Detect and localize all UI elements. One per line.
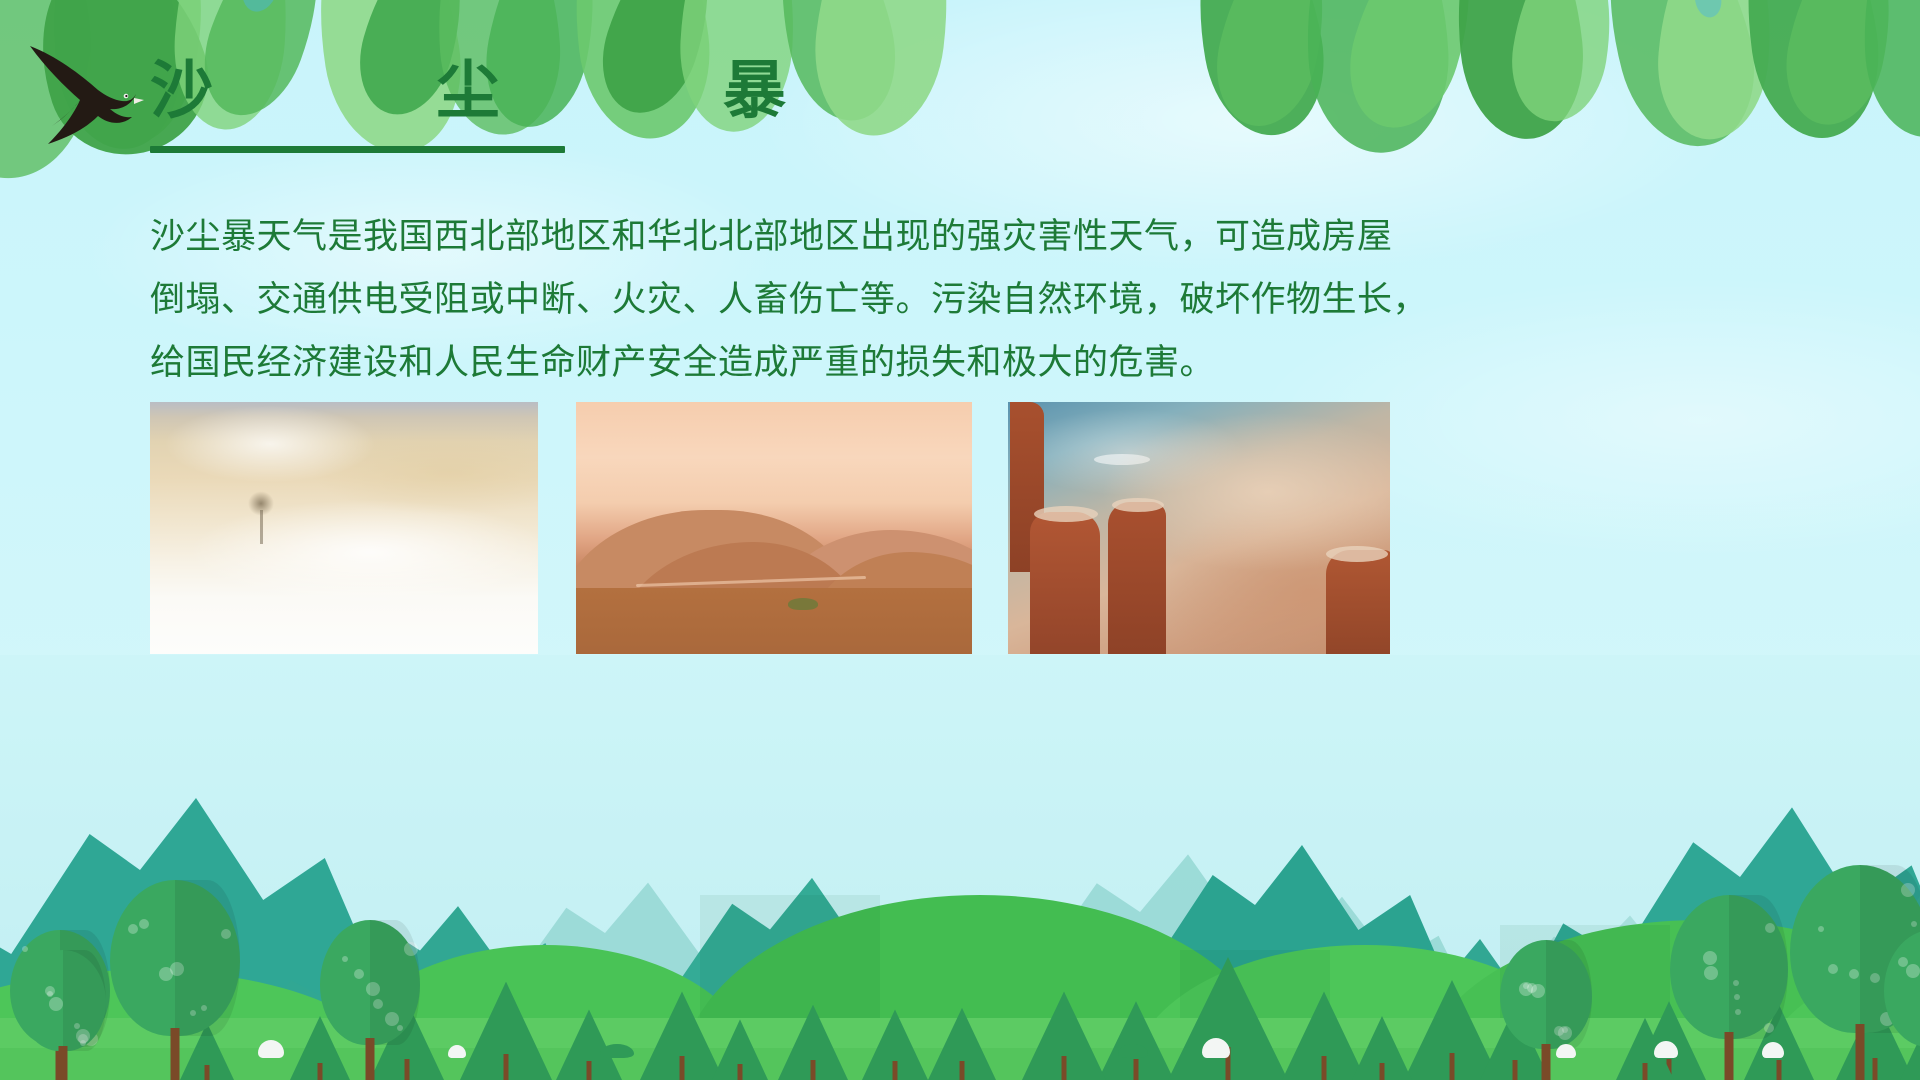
foliage-dot — [47, 991, 53, 997]
tree-trunk — [738, 1064, 743, 1080]
foliage-dot — [78, 1034, 88, 1044]
tree-trunk — [587, 1061, 592, 1080]
foliage-dot — [1906, 964, 1920, 978]
round-tree — [20, 950, 106, 1080]
foliage-dot — [1733, 980, 1739, 986]
tree-trunk — [893, 1061, 898, 1080]
foliage-dot — [1849, 969, 1859, 979]
foliage-dot — [1818, 926, 1824, 932]
rock-highlight-cap — [1034, 506, 1098, 522]
foliage-dot — [1519, 982, 1533, 996]
tree-trunk — [1725, 1032, 1734, 1080]
foliage-dot — [373, 999, 383, 1009]
foliage-dot — [1734, 994, 1740, 1000]
round-tree — [110, 880, 240, 1080]
foliage-dot — [1554, 1026, 1564, 1036]
tree-crown — [320, 920, 420, 1045]
white-rock — [1556, 1044, 1576, 1058]
foliage-dot — [1558, 1026, 1572, 1040]
conifer-tree — [460, 960, 552, 1080]
body-line-1: 沙尘暴天气是我国西北部地区和华北北部地区出现的强灾害性天气，可造成房屋 — [150, 205, 1395, 268]
page-title: 沙 尘 暴 — [150, 58, 889, 124]
white-rock — [448, 1045, 466, 1058]
tree-crown — [1670, 895, 1788, 1039]
white-rock — [1762, 1042, 1784, 1058]
foliage-dot — [1901, 883, 1915, 897]
tree-crown — [1884, 930, 1920, 1047]
foliage-dot — [385, 1012, 399, 1026]
green-mountain-forest-illustration — [0, 655, 1920, 1080]
foliage-dot — [201, 1005, 207, 1011]
foliage-dot — [128, 924, 138, 934]
tree-trunk — [171, 1028, 180, 1080]
conifer-tree — [862, 994, 928, 1080]
tree-trunk — [1542, 1044, 1551, 1080]
tree-trunk — [680, 1056, 685, 1080]
tree-trunk — [1062, 1056, 1067, 1080]
tree-crown — [1500, 940, 1592, 1049]
rock-highlight-cap — [1112, 498, 1164, 512]
foliage-dot — [80, 1040, 86, 1046]
foliage-dot — [49, 997, 63, 1011]
conifer-tree — [1022, 972, 1106, 1080]
title-underline-rule — [150, 146, 565, 153]
round-tree — [1500, 940, 1592, 1080]
conifer-tree — [1168, 930, 1288, 1080]
white-rock — [1654, 1041, 1678, 1058]
foliage-dot — [1765, 923, 1775, 933]
hazy-dust-storm-photo[interactable] — [150, 402, 538, 654]
tree-crown — [20, 950, 106, 1051]
foliage-dot — [1898, 957, 1908, 967]
tree-trunk — [504, 1054, 509, 1080]
foliage-dot — [354, 969, 364, 979]
foliage-dot — [1911, 921, 1917, 927]
foliage-dot — [1562, 1027, 1568, 1033]
foliage-dot — [74, 1023, 80, 1029]
foliage-dot — [221, 929, 231, 939]
conifer-tree — [1098, 984, 1174, 1080]
tree-trunk — [1643, 1063, 1648, 1080]
foliage-dot — [139, 919, 149, 929]
tree-trunk — [1134, 1059, 1139, 1080]
tree-trunk — [366, 1038, 375, 1080]
foliage-dot — [342, 956, 348, 962]
tree-crown — [110, 880, 240, 1036]
tree-trunk — [1322, 1056, 1327, 1080]
conifer-tree — [928, 992, 996, 1080]
title-block: 沙 尘 暴 — [150, 58, 889, 153]
round-tree — [1884, 930, 1920, 1080]
slide-root: 沙 尘 暴 沙尘暴天气是我国西北部地区和华北北部地区出现的强灾害性天气，可造成房… — [0, 0, 1920, 1080]
tree-trunk — [59, 1046, 68, 1080]
tree-trunk — [960, 1061, 965, 1080]
conifer-tree — [1352, 1002, 1412, 1080]
foliage-dot — [1870, 973, 1880, 983]
conifer-tree — [556, 994, 622, 1080]
conifer-tree — [778, 988, 848, 1080]
foliage-dot — [76, 1029, 90, 1043]
foliage-dot — [1828, 964, 1838, 974]
foliage-dot — [190, 1010, 196, 1016]
small-bush — [600, 1044, 634, 1058]
desert-dunes-photo[interactable] — [576, 402, 972, 654]
small-bush — [1118, 1044, 1148, 1058]
swallow-bird-icon — [22, 38, 162, 148]
rock-highlight-cap — [1326, 546, 1388, 562]
foliage-dot — [159, 967, 173, 981]
body-line-3: 给国民经济建设和人民生命财产安全造成严重的损失和极大的危害。 — [150, 331, 1395, 394]
foliage-dot — [1703, 951, 1717, 965]
tree-trunk — [1856, 1024, 1865, 1080]
conifer-tree — [712, 1006, 768, 1080]
foliage-dot — [1704, 966, 1718, 980]
body-paragraph: 沙尘暴天气是我国西北部地区和华北北部地区出现的强灾害性天气，可造成房屋 倒塌、交… — [150, 205, 1395, 394]
foliage-dot — [404, 942, 418, 956]
tree-trunk — [1380, 1063, 1385, 1080]
body-line-2: 倒塌、交通供电受阻或中断、火灾、人畜伤亡等。污染自然环境，破坏作物生长， — [150, 268, 1395, 331]
foliage-dot — [366, 982, 380, 996]
red-rock-canyon-dust-photo[interactable] — [1008, 402, 1390, 654]
foliage-dot — [1764, 1023, 1774, 1033]
tree-trunk — [1450, 1053, 1455, 1080]
foliage-dot — [397, 1025, 403, 1031]
round-tree — [320, 920, 420, 1080]
tree-trunk — [811, 1060, 816, 1080]
photo-row — [150, 402, 1390, 654]
foliage-dot — [1735, 1009, 1741, 1015]
